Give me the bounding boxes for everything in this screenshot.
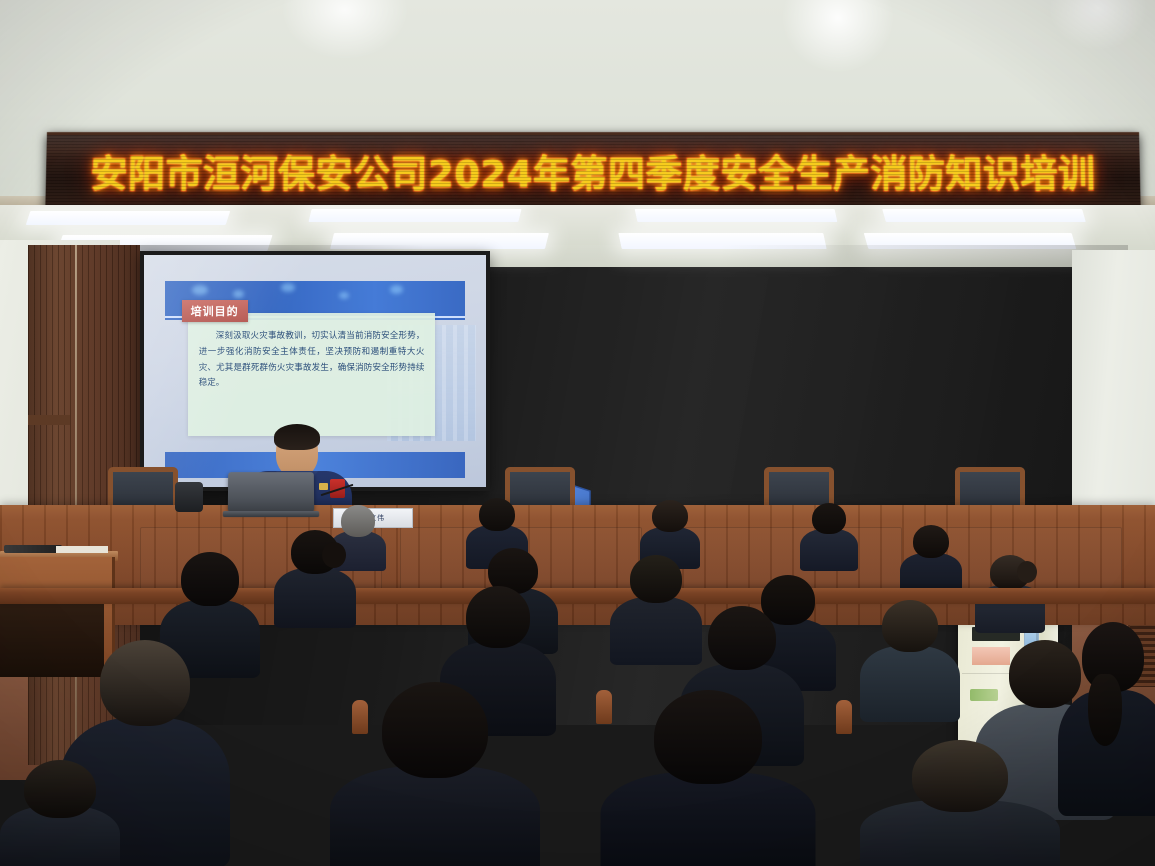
slide-bokeh-dot — [233, 290, 244, 298]
collar-insignia-right-icon — [319, 483, 328, 490]
audience-person — [0, 760, 120, 866]
person-body — [860, 646, 960, 722]
podium-papers — [56, 546, 108, 553]
ceiling-light-panel — [635, 209, 838, 222]
slide-section-tag: 培训目的 — [182, 300, 248, 322]
person-head — [654, 690, 762, 784]
slide-body-text: 深刻汲取火灾事故教训，切实认清当前消防安全形势，进一步强化消防安全主体责任，坚决… — [199, 329, 425, 392]
audience-person — [900, 525, 962, 591]
person-body — [600, 772, 815, 866]
audience-person — [274, 530, 356, 622]
person-head — [652, 500, 688, 532]
person-head — [100, 640, 190, 726]
audience-person — [600, 690, 815, 866]
person-head — [912, 740, 1008, 812]
person-head — [24, 760, 96, 818]
person-head — [913, 525, 949, 558]
audience-person — [860, 740, 1060, 866]
person-head — [630, 555, 682, 603]
audience-person — [800, 503, 858, 565]
person-body — [330, 766, 540, 866]
ceiling-light-panel — [26, 211, 231, 225]
person-hair-bun — [322, 542, 346, 568]
training-room-photo: 安阳市洹河保安公司2024年第四季度安全生产消防知识培训 — [0, 0, 1155, 866]
person-head — [181, 552, 239, 606]
ceiling-light-panel — [882, 209, 1086, 222]
audience-person — [1058, 622, 1155, 802]
presenter-laptop[interactable] — [228, 472, 314, 512]
person-head — [812, 503, 846, 534]
ceiling-light-panel — [308, 209, 521, 222]
led-banner-text: 安阳市洹河保安公司2024年第四季度安全生产消防知识培训 — [45, 141, 1140, 201]
podium-equipment — [4, 545, 62, 553]
chair-armrest — [836, 700, 852, 734]
audience-person — [860, 600, 960, 716]
person-head — [466, 586, 530, 648]
presenter-hair — [274, 424, 320, 450]
audience-person — [330, 682, 540, 866]
person-head — [882, 600, 938, 652]
person-ponytail — [1088, 674, 1122, 746]
desk-bag — [175, 482, 203, 512]
person-head — [708, 606, 776, 670]
person-body — [274, 568, 356, 628]
person-head — [479, 498, 515, 531]
column-shelf — [28, 415, 70, 425]
slide-bokeh-dot — [281, 283, 295, 292]
person-hair-bun — [1017, 561, 1037, 583]
person-head — [382, 682, 488, 778]
person-body — [800, 529, 858, 571]
